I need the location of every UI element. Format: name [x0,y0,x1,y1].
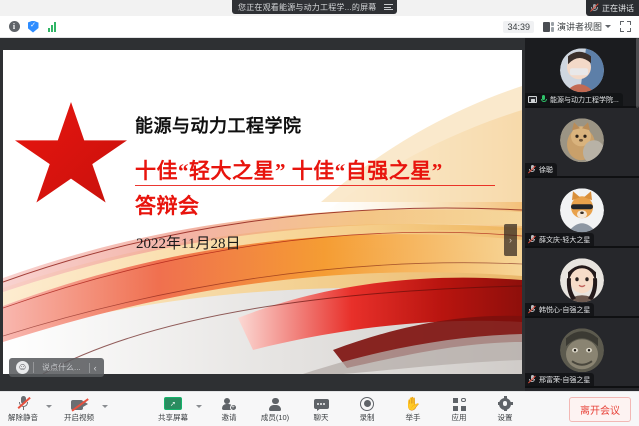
zoom-meeting-window: 您正在观看能源与动力工程学...的屏幕 正在讲话 i ✓ 34:39 演讲者视图 [0,0,639,426]
expand-panel-chevron[interactable]: › [504,224,517,256]
shield-icon[interactable]: ✓ [27,21,39,33]
record-button[interactable]: 录制 [344,393,390,426]
participant-tag: 能源与动力工程学院... [525,93,623,106]
participant-name: 能源与动力工程学院... [550,95,619,105]
avatar [560,328,604,372]
video-options-chevron-icon[interactable] [102,405,108,408]
chat-bubble-icon [314,396,329,411]
chevron-down-icon[interactable] [605,25,611,28]
settings-label: 设置 [498,412,513,423]
camera-off-icon [71,396,88,411]
avatar [560,188,604,232]
unmute-label: 解除静音 [8,412,38,423]
header-left-icons: i ✓ [0,21,58,33]
view-mode-label: 演讲者视图 [557,20,602,33]
invite-button[interactable]: + 邀请 [206,393,252,426]
apps-button[interactable]: 应用 [436,393,482,426]
unmute-button[interactable]: 解除静音 [0,393,46,426]
mic-muted-icon [528,375,536,384]
start-video-button[interactable]: 开启视频 [56,393,102,426]
participant-tile[interactable]: 邢富荣-自强之星 [525,318,639,386]
mic-muted-icon [528,305,536,314]
share-screen-button[interactable]: ➚ 共享屏幕 [150,393,196,426]
apps-grid-icon [453,396,466,411]
shared-screen-stage[interactable]: 能源与动力工程学院 十佳“轻大之星” 十佳“自强之星” 答辩会 2022年11月… [0,38,525,391]
apps-label: 应用 [452,412,467,423]
members-button[interactable]: 成员(10) [252,393,298,426]
avatar [560,118,604,162]
mic-muted-icon [590,3,598,13]
slide-title-line1: 十佳“轻大之星” 十佳“自强之星” [135,155,443,185]
info-icon[interactable]: i [8,21,20,33]
audio-options-chevron-icon[interactable] [46,405,52,408]
decorative-ribbon-graphic [3,50,522,374]
raise-hand-button[interactable]: ✋ 举手 [390,393,436,426]
participant-name: 薛文庆-轻大之星 [539,235,590,245]
screen-share-icon [528,96,537,103]
record-label: 录制 [360,412,375,423]
settings-button[interactable]: 设置 [482,393,528,426]
share-screen-icon: ➚ [164,396,182,411]
mic-muted-icon [528,165,536,174]
fullscreen-icon[interactable] [620,21,631,32]
header-right-controls: 34:39 演讲者视图 [503,20,639,33]
share-screen-label: 共享屏幕 [158,412,188,423]
record-icon [360,396,374,411]
participant-tag: 徐聪 [525,163,557,176]
participant-tag: 邢富荣-自强之星 [525,373,594,386]
raise-hand-label: 举手 [406,412,421,423]
speaker-view-icon [543,22,554,32]
avatar [560,258,604,302]
chat-label: 聊天 [314,412,329,423]
participant-tile[interactable]: 能源与动力工程学院... [525,38,639,106]
avatar [560,48,604,92]
mic-muted-icon [528,235,536,244]
hamburger-menu-icon[interactable] [384,4,393,10]
gear-icon [498,396,512,411]
chevron-left-icon[interactable]: ‹ [89,363,101,373]
participant-name: 韩悦心-自强之星 [539,305,590,315]
members-person-icon [269,396,282,411]
slide-date: 2022年11月28日 [136,232,240,253]
screen-share-banner[interactable]: 您正在观看能源与动力工程学...的屏幕 [232,0,397,14]
raise-hand-icon: ✋ [405,396,421,411]
chat-button[interactable]: 聊天 [298,393,344,426]
slide-title-underline [135,185,495,186]
participant-tag: 薛文庆-轻大之星 [525,233,594,246]
red-star-icon [15,102,127,210]
meeting-chat-input[interactable]: ☺ 说点什么... ‹ [9,358,104,377]
slide-department: 能源与动力工程学院 [135,112,302,138]
mic-on-icon [540,95,547,104]
members-label: 成员(10) [261,412,289,423]
participant-tile[interactable]: 薛文庆-轻大之星 [525,178,639,246]
emoji-smiley-icon[interactable]: ☺ [16,361,29,374]
invite-label: 邀请 [222,412,237,423]
network-signal-icon[interactable] [46,21,58,33]
view-mode-selector[interactable]: 演讲者视图 [543,20,611,33]
participant-tile[interactable]: 徐聪 [525,108,639,176]
leave-meeting-button[interactable]: 离开会议 [569,397,631,422]
invite-person-icon: + [222,396,237,411]
toolbar-audio-video-group: 解除静音 开启视频 [0,393,112,426]
share-options-chevron-icon[interactable] [196,405,202,408]
meeting-header-bar: i ✓ 34:39 演讲者视图 [0,16,639,38]
participant-name: 邢富荣-自强之星 [539,375,590,385]
start-video-label: 开启视频 [64,412,94,423]
meeting-toolbar: 解除静音 开启视频 ➚ 共享屏幕 + [0,391,639,426]
chat-input-placeholder[interactable]: 说点什么... [34,362,89,373]
meeting-timer: 34:39 [503,21,534,33]
participant-tag: 韩悦心-自强之星 [525,303,594,316]
screen-share-banner-text: 您正在观看能源与动力工程学...的屏幕 [238,2,376,13]
presentation-slide: 能源与动力工程学院 十佳“轻大之星” 十佳“自强之星” 答辩会 2022年11月… [3,50,522,374]
participant-video-strip[interactable]: 能源与动力工程学院... [525,38,639,391]
participant-tile[interactable]: 韩悦心-自强之星 [525,248,639,316]
active-speaker-label: 正在讲话 [602,3,634,14]
slide-title-line2: 答辩会 [135,190,200,220]
toolbar-main-group: ➚ 共享屏幕 + 邀请 成员(10) [150,393,528,426]
mic-muted-icon [17,396,29,411]
active-speaker-pill: 正在讲话 [586,0,639,16]
participant-name: 徐聪 [539,165,553,175]
